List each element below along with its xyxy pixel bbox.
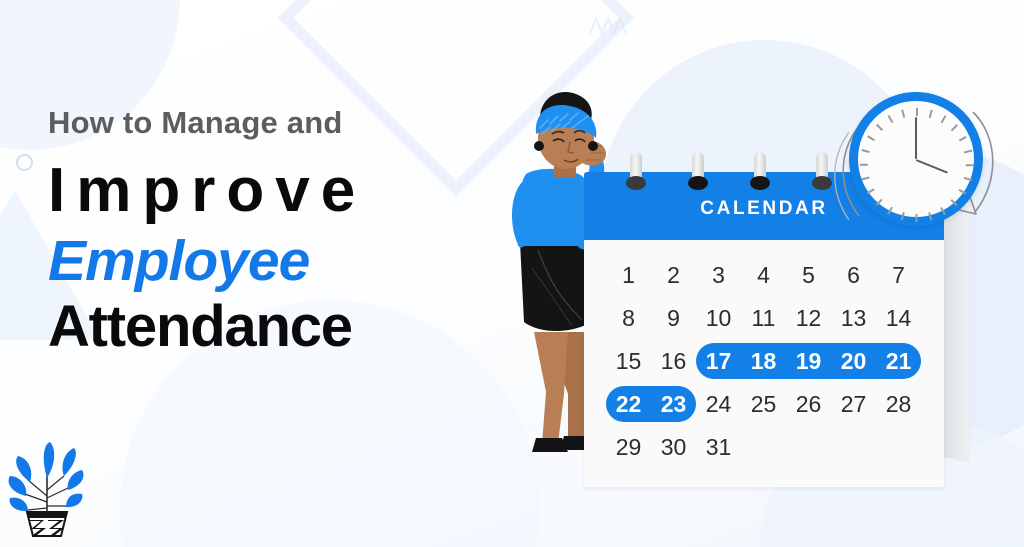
calendar-day[interactable]: 25 [741, 391, 786, 418]
clock-hour-hand [916, 159, 948, 174]
wall-clock [849, 92, 983, 226]
binder-ring-icon [630, 152, 642, 192]
calendar-day-selected[interactable]: 18 [741, 348, 786, 375]
calendar-day[interactable]: 9 [651, 305, 696, 332]
headline-block: How to Manage and Improve Employee Atten… [48, 104, 518, 356]
headline-word-attendance: Attendance [48, 297, 518, 356]
calendar-day[interactable]: 26 [786, 391, 831, 418]
headline-eyebrow: How to Manage and [48, 104, 518, 141]
calendar-day-selected[interactable]: 19 [786, 348, 831, 375]
clock-face [849, 92, 983, 226]
calendar-day-selected[interactable]: 17 [696, 348, 741, 375]
calendar-day-selected[interactable]: 22 [606, 391, 651, 418]
calendar-week-row: 15 16 17 18 19 20 21 [606, 340, 922, 383]
clock-minute-hand [915, 117, 917, 159]
calendar-day[interactable]: 30 [651, 434, 696, 461]
calendar-day-selected[interactable]: 23 [651, 391, 696, 418]
calendar-day[interactable]: 16 [651, 348, 696, 375]
headline-word-improve: Improve [48, 159, 518, 222]
calendar-day[interactable]: 12 [786, 305, 831, 332]
zigzag-accent-icon [588, 14, 628, 38]
calendar-day[interactable]: 1 [606, 262, 651, 289]
calendar-day[interactable]: 11 [741, 305, 786, 332]
potted-plant-logo[interactable] [8, 432, 86, 538]
banner-canvas: How to Manage and Improve Employee Atten… [0, 0, 1024, 547]
calendar-day-selected[interactable]: 20 [831, 348, 876, 375]
binder-ring-icon [754, 152, 766, 192]
calendar-day[interactable]: 7 [876, 262, 921, 289]
calendar-day[interactable]: 13 [831, 305, 876, 332]
calendar-day[interactable]: 4 [741, 262, 786, 289]
calendar-grid: 1 2 3 4 5 6 7 8 9 10 11 12 13 14 15 16 [584, 240, 944, 487]
calendar-day[interactable]: 10 [696, 305, 741, 332]
headline-word-employee: Employee [48, 232, 518, 290]
calendar-week-row: 22 23 24 25 26 27 28 [606, 383, 922, 426]
calendar-day[interactable]: 27 [831, 391, 876, 418]
calendar-day[interactable]: 3 [696, 262, 741, 289]
small-circle-outline-icon [16, 154, 33, 171]
calendar-week-row: 29 30 31 [606, 426, 922, 469]
calendar-day[interactable]: 8 [606, 305, 651, 332]
calendar-day[interactable]: 24 [696, 391, 741, 418]
calendar-day-selected[interactable]: 21 [876, 348, 921, 375]
calendar-day[interactable]: 6 [831, 262, 876, 289]
calendar-week-row: 8 9 10 11 12 13 14 [606, 297, 922, 340]
calendar-day[interactable]: 2 [651, 262, 696, 289]
calendar-day[interactable]: 31 [696, 434, 741, 461]
calendar-week-row: 1 2 3 4 5 6 7 [606, 254, 922, 297]
calendar-day[interactable]: 28 [876, 391, 921, 418]
calendar-day[interactable]: 14 [876, 305, 921, 332]
calendar-day[interactable]: 5 [786, 262, 831, 289]
calendar-day[interactable]: 15 [606, 348, 651, 375]
calendar-day[interactable]: 29 [606, 434, 651, 461]
binder-ring-icon [692, 152, 704, 192]
